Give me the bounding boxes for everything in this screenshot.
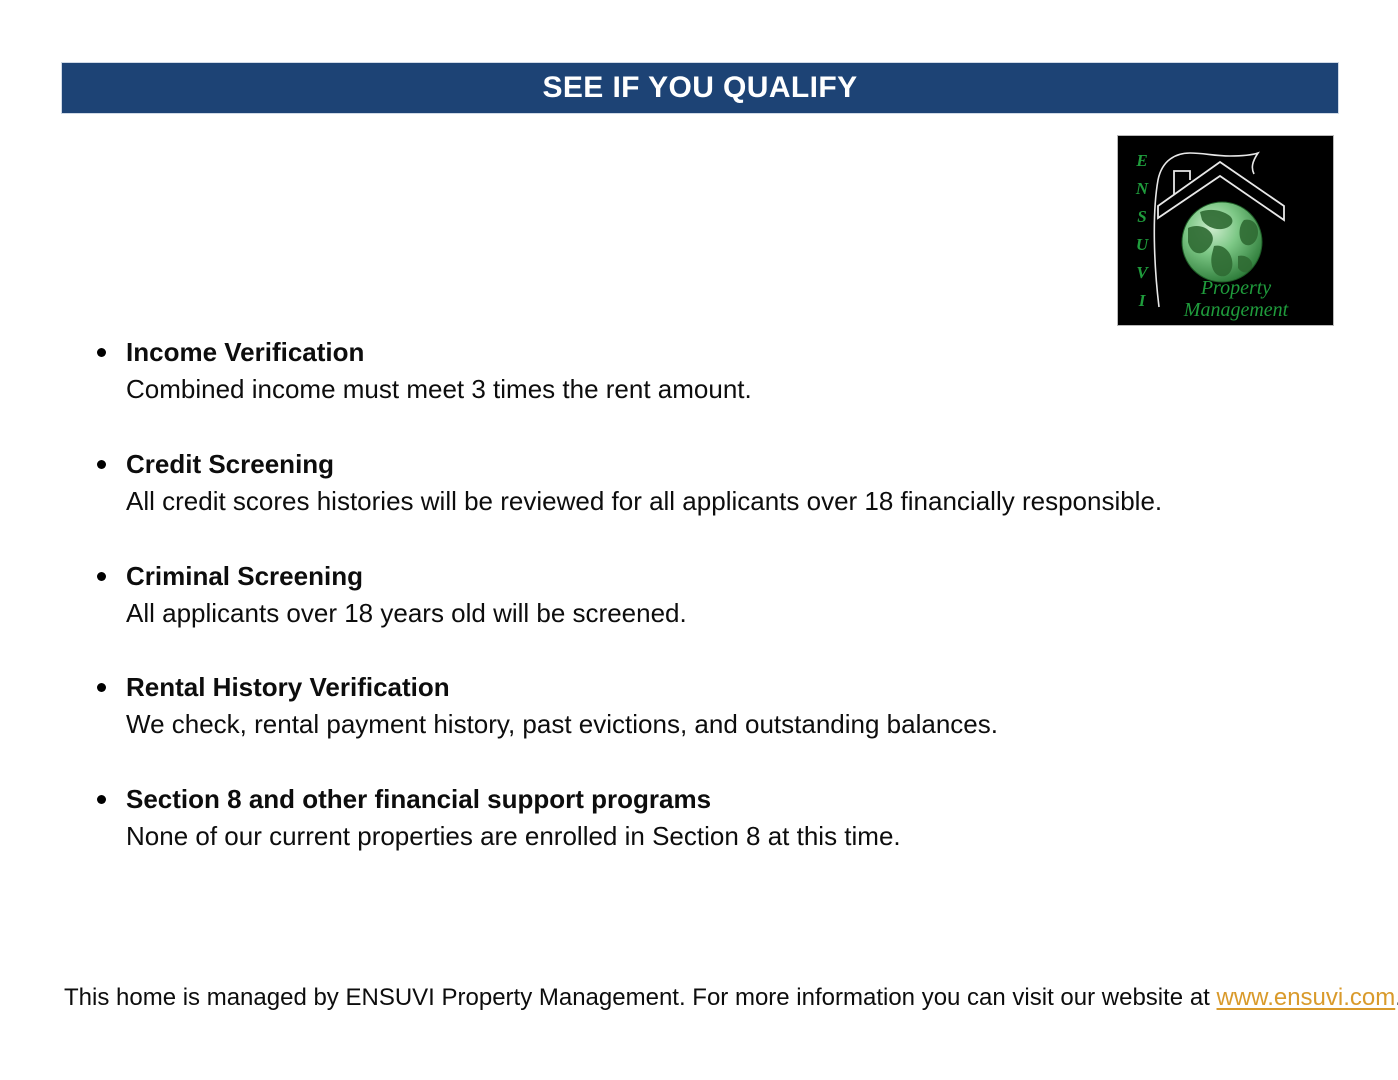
criteria-heading: Credit Screening <box>126 446 1348 483</box>
qualification-criteria-list: Income Verification Combined income must… <box>88 334 1348 855</box>
criteria-body: All applicants over 18 years old will be… <box>126 595 1348 632</box>
criteria-heading: Criminal Screening <box>126 558 1348 595</box>
list-item: Credit Screening All credit scores histo… <box>88 446 1348 520</box>
footer-text-before: This home is managed by ENSUVI Property … <box>64 984 1217 1011</box>
criteria-body: All credit scores histories will be revi… <box>126 483 1348 520</box>
criteria-body: We check, rental payment history, past e… <box>126 706 1348 743</box>
website-link[interactable]: www.ensuvi.com <box>1217 984 1396 1011</box>
criteria-body: None of our current properties are enrol… <box>126 818 1348 855</box>
criteria-heading: Section 8 and other financial support pr… <box>126 781 1348 818</box>
bullet-icon <box>97 683 106 692</box>
svg-text:S: S <box>1137 207 1146 226</box>
criteria-heading: Rental History Verification <box>126 669 1348 706</box>
list-item: Criminal Screening All applicants over 1… <box>88 558 1348 632</box>
svg-text:E: E <box>1135 151 1147 170</box>
logo-tagline-line2: Management <box>1183 299 1289 321</box>
list-item: Income Verification Combined income must… <box>88 334 1348 408</box>
list-item: Section 8 and other financial support pr… <box>88 781 1348 855</box>
logo-tagline-line1: Property <box>1200 277 1271 299</box>
footer-note: This home is managed by ENSUVI Property … <box>64 982 1354 1013</box>
bullet-icon <box>97 572 106 581</box>
bullet-icon <box>97 348 106 357</box>
bullet-icon <box>97 460 106 469</box>
page-header-banner: SEE IF YOU QUALIFY <box>62 63 1338 113</box>
svg-text:V: V <box>1136 263 1149 282</box>
svg-text:N: N <box>1135 179 1149 198</box>
criteria-body: Combined income must meet 3 times the re… <box>126 371 1348 408</box>
company-logo: E N S U V I Property Management <box>1118 136 1333 325</box>
logo-artwork: E N S U V I Property Management <box>1118 136 1333 325</box>
page-title: SEE IF YOU QUALIFY <box>542 73 857 103</box>
bullet-icon <box>97 795 106 804</box>
criteria-heading: Income Verification <box>126 334 1348 371</box>
svg-text:U: U <box>1136 235 1149 254</box>
list-item: Rental History Verification We check, re… <box>88 669 1348 743</box>
